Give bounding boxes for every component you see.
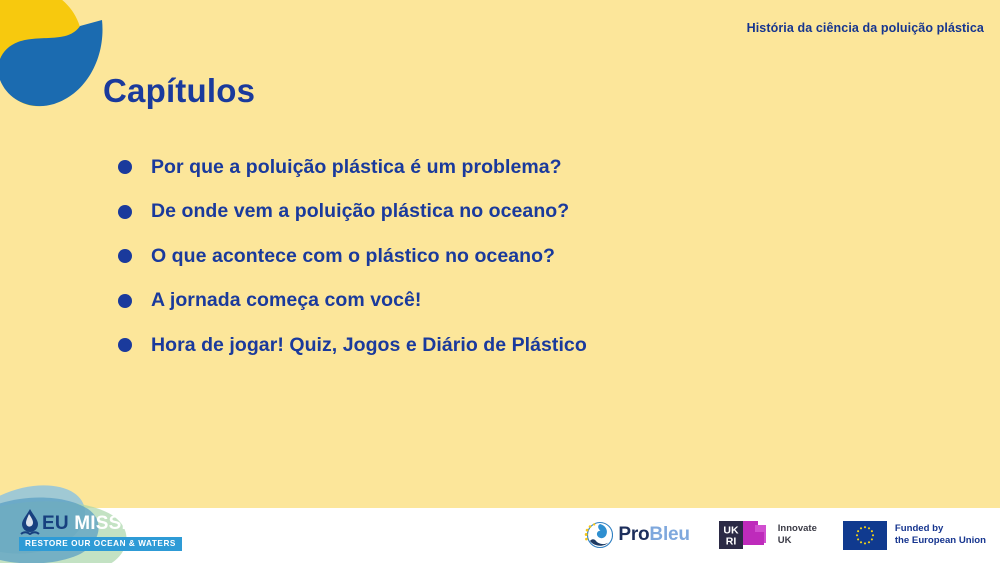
probleu-logo: ProBleu xyxy=(583,519,689,551)
brand-swoosh-logo xyxy=(0,0,112,118)
page-title: Capítulos xyxy=(103,72,255,110)
bullet-icon xyxy=(118,338,132,352)
list-item[interactable]: Por que a poluição plástica é um problem… xyxy=(118,145,918,190)
list-item[interactable]: A jornada começa com você! xyxy=(118,279,918,324)
probleu-wordmark: ProBleu xyxy=(618,524,689,546)
probleu-swirl-icon xyxy=(583,520,613,550)
list-item[interactable]: O que acontece com o plástico no oceano? xyxy=(118,234,918,279)
eu-missions-logo: EU MISSIONS RESTORE OUR OCEAN & WATERS xyxy=(0,463,200,563)
eu-funding-line2: the European Union xyxy=(895,535,986,547)
bullet-icon xyxy=(118,249,132,263)
page-header-title: História da ciência da poluição plástica xyxy=(747,21,984,35)
list-item-label: O que acontece com o plástico no oceano? xyxy=(151,245,555,268)
water-droplet-icon xyxy=(20,509,40,535)
eu-flag-icon xyxy=(843,521,887,550)
eu-funding-line1: Funded by xyxy=(895,523,986,535)
eu-missions-tagline: RESTORE OUR OCEAN & WATERS xyxy=(19,537,182,552)
list-item[interactable]: Hora de jogar! Quiz, Jogos e Diário de P… xyxy=(118,323,918,368)
innovate-uk-line2: UK xyxy=(778,535,817,547)
eu-missions-suffix: MISSIONS xyxy=(74,513,169,534)
innovate-uk-line1: Innovate xyxy=(778,523,817,535)
eu-funding-wordmark: Funded by the European Union xyxy=(895,523,986,548)
list-item-label: Hora de jogar! Quiz, Jogos e Diário de P… xyxy=(151,334,587,357)
footer-logo-row: ProBleu UK RI Innovate UK xyxy=(583,515,986,555)
svg-text:RI: RI xyxy=(726,536,737,548)
probleu-prefix: Pro xyxy=(618,524,649,545)
chapter-list: Por que a poluição plástica é um problem… xyxy=(118,145,918,368)
list-item-label: Por que a poluição plástica é um problem… xyxy=(151,156,562,179)
innovate-uk-logo: UK RI Innovate UK xyxy=(718,519,817,551)
list-item[interactable]: De onde vem a poluição plástica no ocean… xyxy=(118,190,918,235)
eu-funding-logo: Funded by the European Union xyxy=(843,519,986,551)
eu-missions-prefix: EU xyxy=(42,513,69,534)
slide-canvas: História da ciência da poluição plástica… xyxy=(0,0,1000,563)
eu-missions-wordmark: EU MISSIONS xyxy=(42,514,169,533)
bullet-icon xyxy=(118,205,132,219)
list-item-label: A jornada começa com você! xyxy=(151,289,421,312)
probleu-suffix: Bleu xyxy=(649,524,689,545)
innovate-uk-wordmark: Innovate UK xyxy=(778,523,817,547)
bullet-icon xyxy=(118,294,132,308)
list-item-label: De onde vem a poluição plástica no ocean… xyxy=(151,200,569,223)
bullet-icon xyxy=(118,160,132,174)
ukri-logo-icon: UK RI xyxy=(718,519,772,551)
